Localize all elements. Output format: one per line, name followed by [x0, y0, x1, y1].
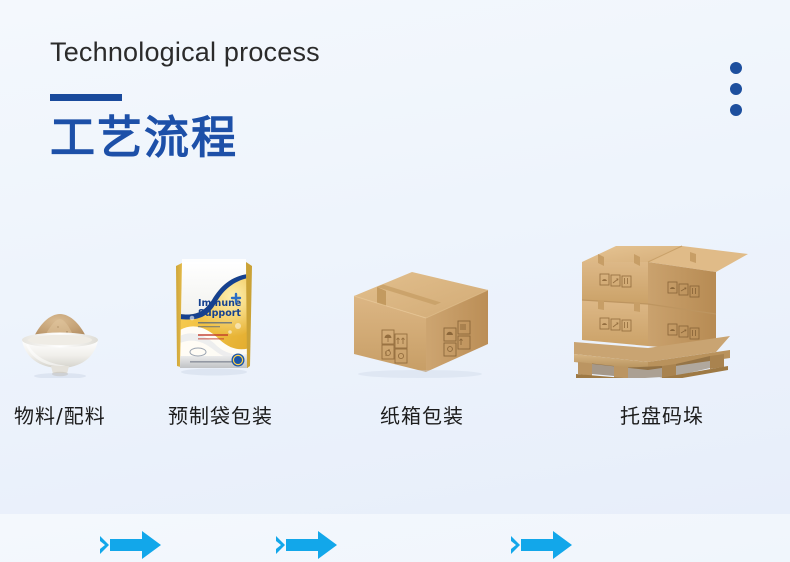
- caption-carton-packing: 纸箱包装: [380, 400, 464, 429]
- page-header: Technological process 工艺流程: [50, 38, 650, 161]
- page-title-chinese: 工艺流程: [50, 114, 650, 161]
- dot-icon-2: [730, 83, 742, 95]
- decorative-dots: [730, 62, 742, 116]
- flow-arrow-3: [511, 528, 573, 562]
- process-flow-row: Immune Support: [0, 228, 790, 378]
- caption-raw-material: 物料/配料: [14, 400, 106, 429]
- doypack-pouch-icon: Immune Support: [168, 256, 260, 378]
- bowl-of-powder-icon: [12, 308, 108, 378]
- palletized-cartons-icon: [570, 230, 756, 378]
- svg-text:Support: Support: [198, 308, 241, 319]
- flow-arrow-1: [100, 528, 162, 562]
- caption-palletizing: 托盘码垛: [620, 400, 704, 429]
- dot-icon-3: [730, 104, 742, 116]
- caption-pouch-packing: 预制袋包装: [168, 400, 273, 429]
- dot-icon-1: [730, 62, 742, 74]
- cardboard-carton-icon: [338, 266, 498, 378]
- stage-pouch-packing: Immune Support: [168, 256, 260, 378]
- stage-carton-packing: [338, 266, 498, 378]
- title-underline-rule: [50, 94, 122, 101]
- stage-palletizing: [570, 230, 756, 378]
- stage-captions: 物料/配料 预制袋包装 纸箱包装 托盘码垛: [0, 400, 790, 440]
- stage-raw-material: [12, 308, 108, 378]
- page-title-english: Technological process: [50, 38, 650, 68]
- flow-arrow-2: [276, 528, 338, 562]
